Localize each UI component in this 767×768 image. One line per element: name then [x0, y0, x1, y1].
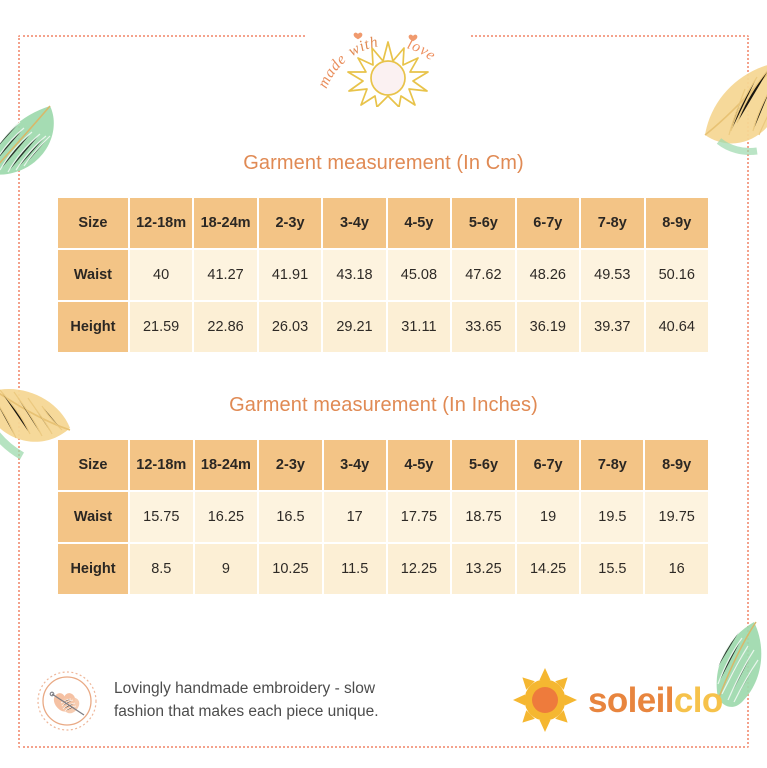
page-title-cm: Garment measurement (In Cm): [0, 152, 767, 175]
cell-waist-18-24m: 16.25: [195, 492, 258, 542]
cell-height-3-4y: 11.5: [324, 544, 386, 594]
cell-height-12-18m: 21.59: [130, 302, 192, 352]
row-label-height: Height: [58, 302, 128, 352]
cell-waist-3-4y: 43.18: [323, 250, 385, 300]
cell-height-6-7y: 36.19: [517, 302, 579, 352]
column-header-18-24m: 18-24m: [195, 440, 258, 490]
brand-logo[interactable]: soleilclo: [513, 668, 723, 732]
column-header-12-18m: 12-18m: [130, 198, 192, 248]
table-header-row: Size 12-18m 18-24m 2-3y 3-4y 4-5y 5-6y 6…: [58, 440, 708, 490]
cell-height-7-8y: 15.5: [581, 544, 643, 594]
cell-waist-6-7y: 19: [517, 492, 580, 542]
cell-height-18-24m: 22.86: [194, 302, 256, 352]
cell-height-2-3y: 10.25: [259, 544, 322, 594]
table-row: Waist 40 41.27 41.91 43.18 45.08 47.62 4…: [58, 250, 708, 300]
column-header-size: Size: [58, 440, 128, 490]
embroidery-hoop-icon: [36, 670, 98, 732]
cell-waist-4-5y: 17.75: [388, 492, 451, 542]
size-chart-page: made with love Garment measurement (In C…: [0, 0, 767, 768]
column-header-3-4y: 3-4y: [323, 198, 385, 248]
footer-tagline-line-1: Lovingly handmade embroidery - slow: [114, 678, 379, 701]
cell-waist-18-24m: 41.27: [194, 250, 256, 300]
column-header-5-6y: 5-6y: [452, 440, 515, 490]
brand-name-primary: soleil: [588, 681, 674, 720]
cell-height-12-18m: 8.5: [130, 544, 193, 594]
svg-text:with: with: [345, 33, 379, 60]
table-header-row: Size 12-18m 18-24m 2-3y 3-4y 4-5y 5-6y 6…: [58, 198, 708, 248]
brand-name-secondary: clo: [674, 681, 723, 720]
cell-waist-7-8y: 49.53: [581, 250, 643, 300]
row-label-waist: Waist: [58, 250, 128, 300]
cell-height-8-9y: 40.64: [646, 302, 709, 352]
size-table-inches: Size 12-18m 18-24m 2-3y 3-4y 4-5y 5-6y 6…: [56, 438, 710, 596]
column-header-3-4y: 3-4y: [324, 440, 386, 490]
sun-icon: made with love: [305, 12, 470, 107]
row-label-waist: Waist: [58, 492, 128, 542]
cell-waist-3-4y: 17: [324, 492, 386, 542]
cell-waist-8-9y: 19.75: [645, 492, 708, 542]
column-header-2-3y: 2-3y: [259, 198, 321, 248]
column-header-5-6y: 5-6y: [452, 198, 514, 248]
cell-waist-2-3y: 16.5: [259, 492, 322, 542]
cell-height-8-9y: 16: [645, 544, 708, 594]
column-header-12-18m: 12-18m: [130, 440, 193, 490]
column-header-size: Size: [58, 198, 128, 248]
svg-text:love: love: [405, 36, 439, 65]
cell-waist-12-18m: 40: [130, 250, 192, 300]
column-header-2-3y: 2-3y: [259, 440, 322, 490]
cell-height-4-5y: 12.25: [388, 544, 451, 594]
cell-height-5-6y: 33.65: [452, 302, 514, 352]
column-header-8-9y: 8-9y: [646, 198, 709, 248]
column-header-6-7y: 6-7y: [517, 440, 580, 490]
cell-height-3-4y: 29.21: [323, 302, 385, 352]
cell-waist-8-9y: 50.16: [646, 250, 709, 300]
column-header-18-24m: 18-24m: [194, 198, 256, 248]
cell-height-4-5y: 31.11: [388, 302, 450, 352]
cell-height-7-8y: 39.37: [581, 302, 643, 352]
row-label-height: Height: [58, 544, 128, 594]
cell-height-2-3y: 26.03: [259, 302, 321, 352]
cell-waist-2-3y: 41.91: [259, 250, 321, 300]
cell-waist-6-7y: 48.26: [517, 250, 579, 300]
cell-waist-5-6y: 47.62: [452, 250, 514, 300]
cell-height-18-24m: 9: [195, 544, 258, 594]
cell-waist-7-8y: 19.5: [581, 492, 643, 542]
sun-logo-icon: [513, 668, 577, 732]
page-title-inches: Garment measurement (In Inches): [0, 394, 767, 417]
column-header-4-5y: 4-5y: [388, 440, 451, 490]
table-row: Height 21.59 22.86 26.03 29.21 31.11 33.…: [58, 302, 708, 352]
cell-waist-4-5y: 45.08: [388, 250, 450, 300]
table-row: Height 8.5 9 10.25 11.5 12.25 13.25 14.2…: [58, 544, 708, 594]
cell-waist-5-6y: 18.75: [452, 492, 515, 542]
column-header-7-8y: 7-8y: [581, 198, 643, 248]
size-table-cm: Size 12-18m 18-24m 2-3y 3-4y 4-5y 5-6y 6…: [56, 196, 710, 354]
column-header-8-9y: 8-9y: [645, 440, 708, 490]
footer-tagline-line-2: fashion that makes each piece unique.: [114, 701, 379, 724]
svg-text:made: made: [314, 51, 349, 91]
brand-name: soleilclo: [588, 683, 723, 718]
column-header-6-7y: 6-7y: [517, 198, 579, 248]
column-header-7-8y: 7-8y: [581, 440, 643, 490]
column-header-4-5y: 4-5y: [388, 198, 450, 248]
cell-waist-12-18m: 15.75: [130, 492, 193, 542]
table-row: Waist 15.75 16.25 16.5 17 17.75 18.75 19…: [58, 492, 708, 542]
made-with-love-badge: made with love: [305, 12, 470, 107]
cell-height-6-7y: 14.25: [517, 544, 580, 594]
decorative-frame-border: [18, 35, 749, 748]
footer-tagline: Lovingly handmade embroidery - slow fash…: [114, 678, 379, 724]
cell-height-5-6y: 13.25: [452, 544, 515, 594]
